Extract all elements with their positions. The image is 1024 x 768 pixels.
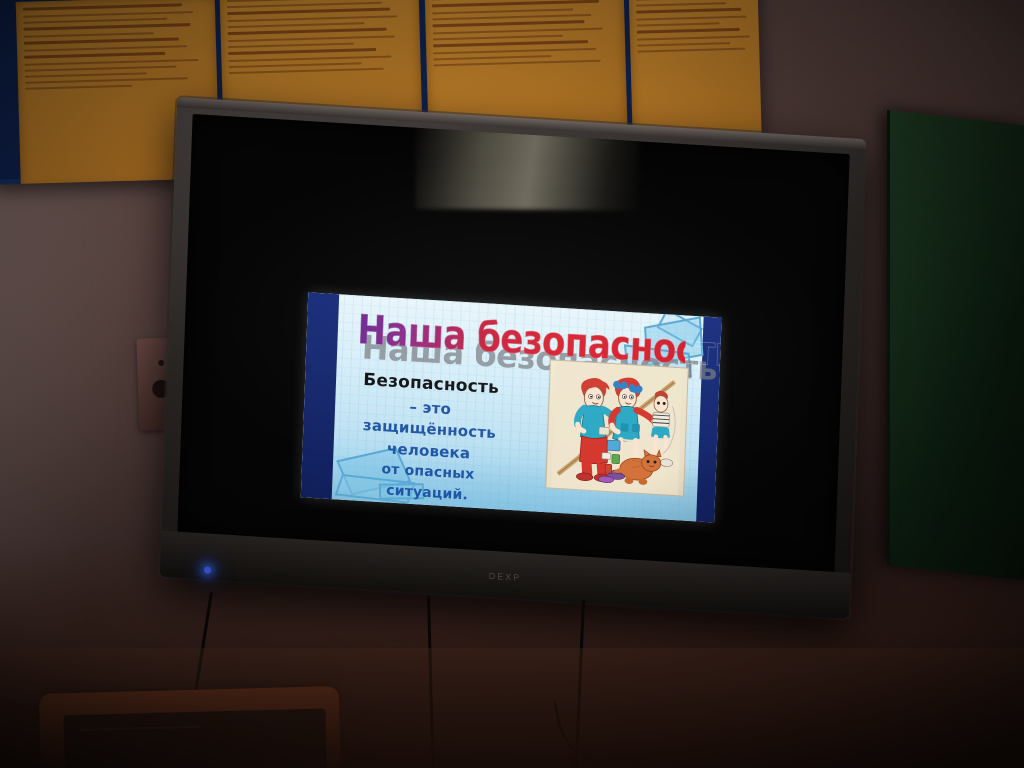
slide-body-text: Безопасность – это защищённость человека… bbox=[340, 369, 519, 508]
desk-surface bbox=[0, 648, 1024, 768]
wall-mounted-television[interactable]: Наша безопасность. Наша безопасность. Бе… bbox=[160, 97, 867, 619]
power-led-indicator bbox=[204, 566, 211, 573]
classroom-scene: ПА bbox=[0, 0, 1024, 768]
chalkboard-sheen bbox=[890, 110, 1024, 581]
cartoon-children-with-cat-illustration bbox=[546, 359, 689, 496]
socket-screw-icon bbox=[158, 360, 164, 366]
green-chalkboard bbox=[887, 110, 1024, 581]
tv-brand-logo: DEXP bbox=[489, 571, 522, 583]
presentation-slide: Наша безопасность. Наша безопасность. Бе… bbox=[300, 293, 721, 523]
tv-screen: Наша безопасность. Наша безопасность. Бе… bbox=[177, 114, 849, 572]
